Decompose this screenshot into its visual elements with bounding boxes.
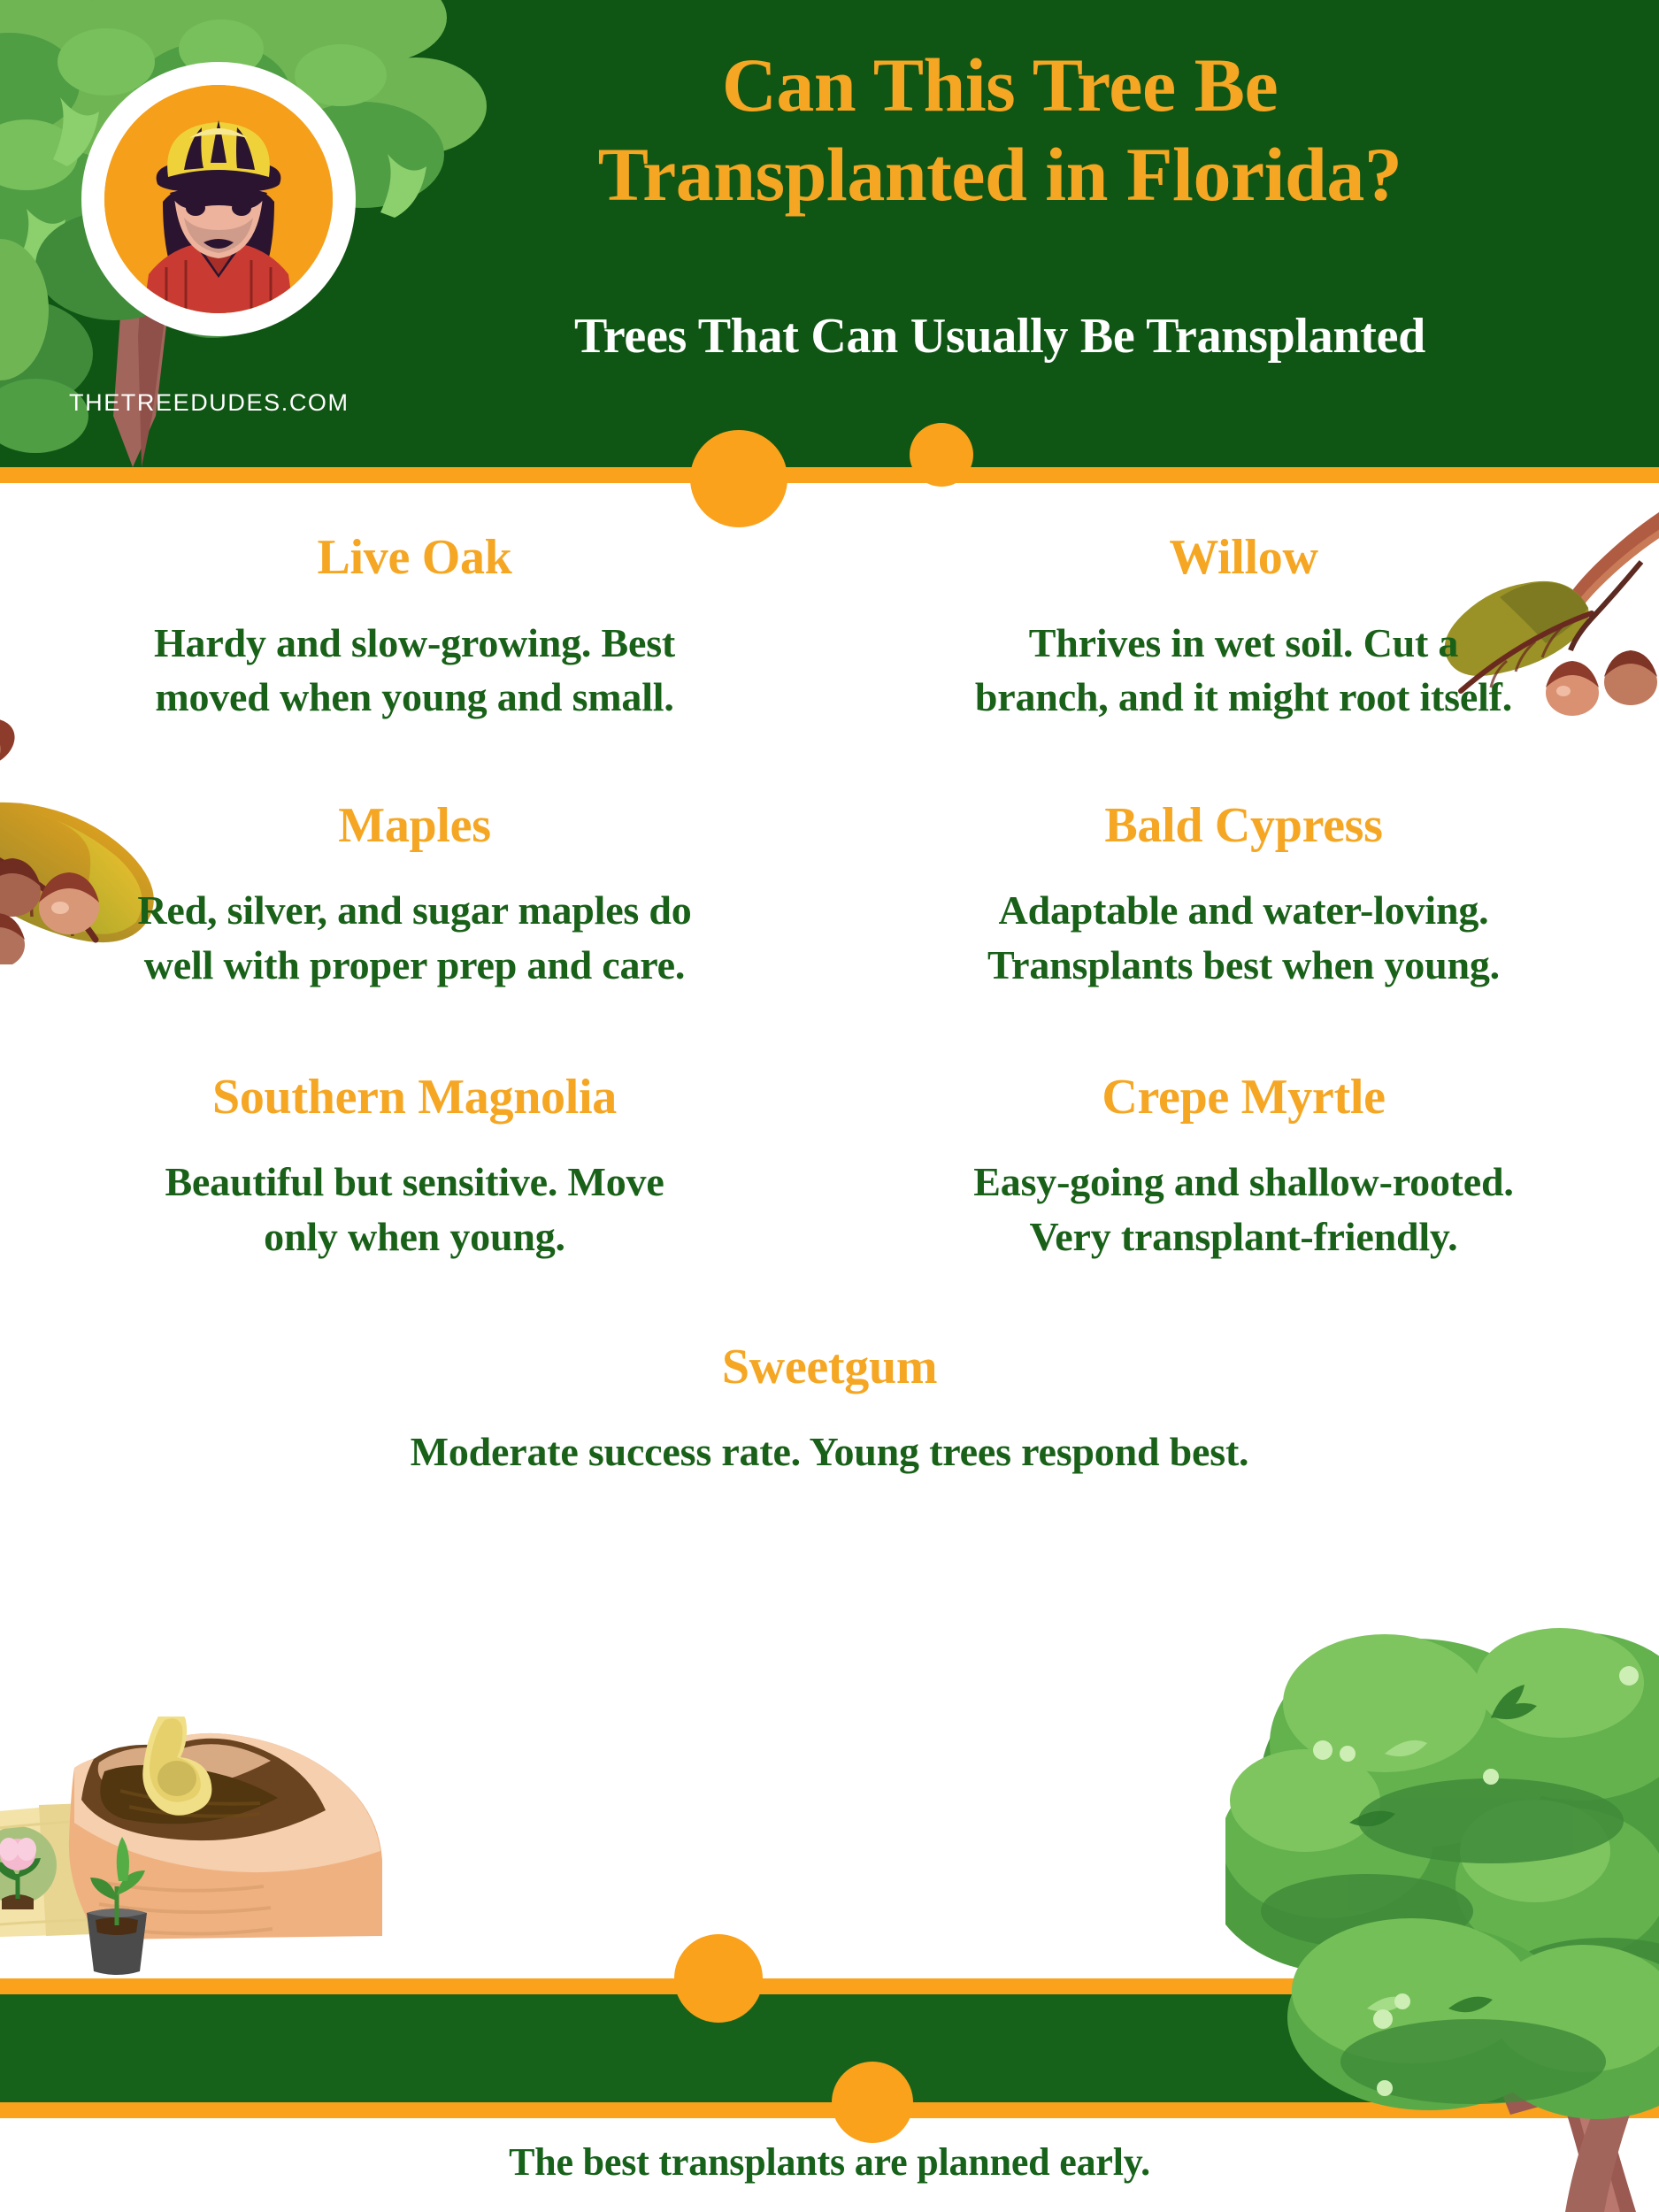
page-title-line-2: Transplanted in Florida? [380,130,1619,219]
tree-description: Thrives in wet soil. Cut a branch, and i… [962,616,1525,725]
tree-name: Sweetgum [372,1340,1287,1395]
page-title-line-1: Can This Tree Be [380,41,1619,130]
footer-dot-lower [832,2062,913,2143]
tree-list: Live Oak Hardy and slow-growing. Best mo… [0,531,1659,1479]
header-divider-rule [0,467,1659,483]
tree-card-sweetgum: Sweetgum Moderate success rate. Young tr… [0,1340,1659,1479]
header-banner: THETREEDUDES.COM Can This Tree Be Transp… [0,0,1659,467]
tree-name: Crepe Myrtle [953,1071,1534,1125]
tree-row-2: Maples Red, silver, and sugar maples do … [0,799,1659,993]
tree-card-crepe-myrtle: Crepe Myrtle Easy-going and shallow-root… [829,1071,1658,1264]
tree-description: Beautiful but sensitive. Move only when … [124,1155,705,1263]
divider-dot-small [910,423,973,487]
logo-orange-disc [104,85,333,313]
tree-name: Maples [124,799,705,854]
tree-description: Moderate success rate. Young trees respo… [372,1425,1287,1479]
tree-card-willow: Willow Thrives in wet soil. Cut a branch… [829,531,1658,725]
site-url: THETREEDUDES.COM [69,389,349,417]
soil-bag-seedling-illustration [0,1717,403,1982]
green-trees-illustration [1225,1619,1659,2212]
tree-row-4: Sweetgum Moderate success rate. Young tr… [0,1340,1659,1479]
tree-name: Bald Cypress [953,799,1534,854]
tree-row-1: Live Oak Hardy and slow-growing. Best mo… [0,531,1659,725]
footer-tagline: The best transplants are planned early. [0,2139,1659,2185]
tree-description: Adaptable and water-loving. Transplants … [953,883,1534,992]
lumberjack-mascot-icon [104,85,333,313]
tree-description: Hardy and slow-growing. Best moved when … [133,616,696,725]
tree-description: Red, silver, and sugar maples do well wi… [124,883,705,992]
logo [81,62,356,336]
page-title: Can This Tree Be Transplanted in Florida… [380,41,1619,220]
tree-card-live-oak: Live Oak Hardy and slow-growing. Best mo… [0,531,829,725]
tree-card-bald-cypress: Bald Cypress Adaptable and water-loving.… [829,799,1658,993]
page-subtitle: Trees That Can Usually Be Transplanted [380,308,1619,365]
tree-card-southern-magnolia: Southern Magnolia Beautiful but sensitiv… [0,1071,829,1264]
tree-card-maples: Maples Red, silver, and sugar maples do … [0,799,829,993]
tree-name: Live Oak [133,531,696,586]
tree-row-3: Southern Magnolia Beautiful but sensitiv… [0,1071,1659,1264]
infographic-poster: THETREEDUDES.COM Can This Tree Be Transp… [0,0,1659,2212]
tree-name: Southern Magnolia [124,1071,705,1125]
tree-name: Willow [962,531,1525,586]
footer-dot-upper [674,1934,763,2023]
divider-dot-large [690,430,787,527]
tree-description: Easy-going and shallow-rooted. Very tran… [953,1155,1534,1263]
